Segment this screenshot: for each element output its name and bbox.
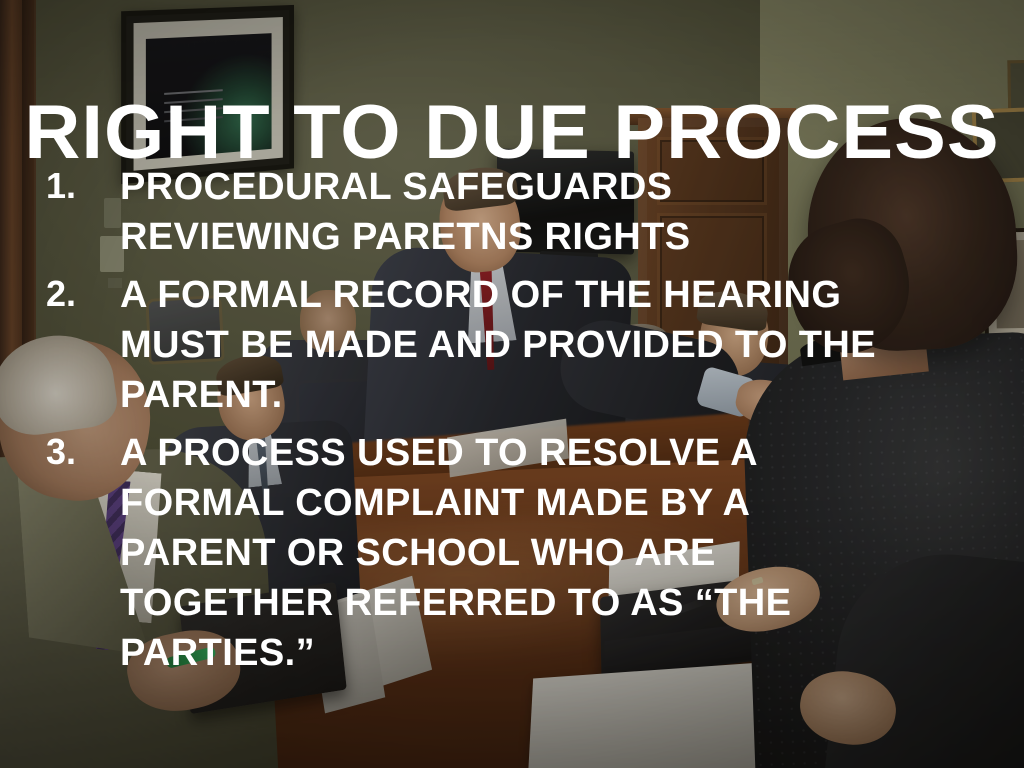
list-item-text: A FORMAL RECORD OF THE HEARING MUST BE M… — [120, 270, 940, 420]
list-item: 2. A FORMAL RECORD OF THE HEARING MUST B… — [46, 270, 946, 420]
list-item-number: 1. — [46, 162, 120, 210]
list-item: 3. A PROCESS USED TO RESOLVE A FORMAL CO… — [46, 428, 946, 678]
list-item-text: A PROCESS USED TO RESOLVE A FORMAL COMPL… — [120, 428, 910, 678]
list-item: 1. PROCEDURAL SAFEGUARDS REVIEWING PARET… — [46, 162, 946, 262]
slide-content: RIGHT TO DUE PROCESS 1. PROCEDURAL SAFEG… — [0, 0, 1024, 768]
list-item-number: 2. — [46, 270, 120, 318]
list-item-number: 3. — [46, 428, 120, 476]
list-item-text: PROCEDURAL SAFEGUARDS REVIEWING PARETNS … — [120, 162, 870, 262]
presentation-slide: RIGHT TO DUE PROCESS 1. PROCEDURAL SAFEG… — [0, 0, 1024, 768]
bullet-list: 1. PROCEDURAL SAFEGUARDS REVIEWING PARET… — [46, 162, 946, 686]
page-title: RIGHT TO DUE PROCESS — [0, 95, 1024, 171]
